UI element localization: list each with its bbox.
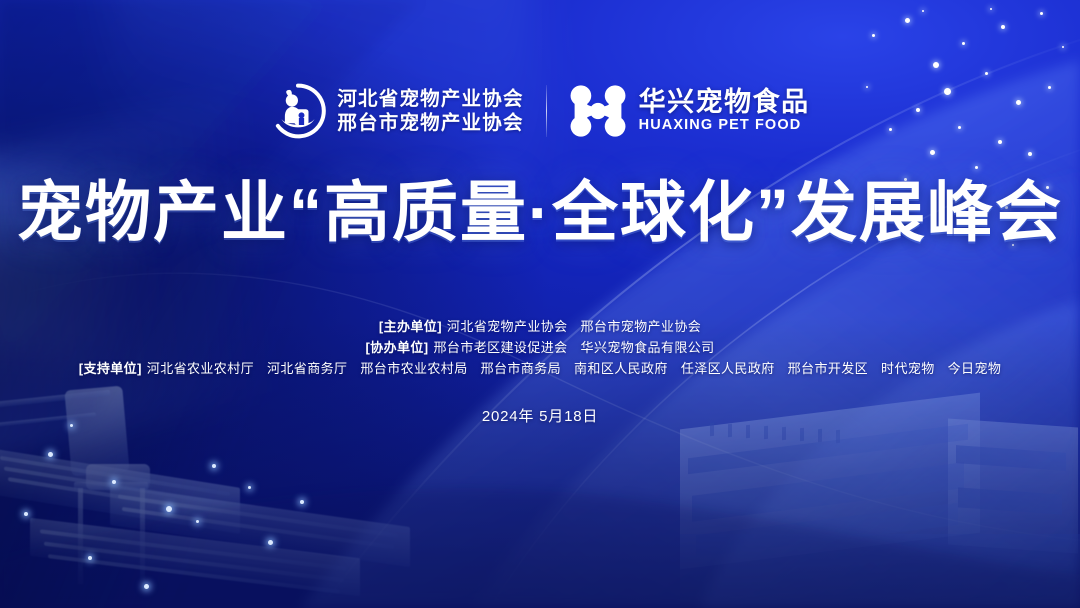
credit-tag: [支持单位] xyxy=(79,361,142,376)
credit-org: 邢台市商务局 xyxy=(481,361,561,376)
huaxing-logo: 华兴宠物食品 HUAXING PET FOOD xyxy=(569,84,810,138)
banner-stage: 河北省宠物产业协会 邢台市宠物产业协会 华兴宠物食品 xyxy=(0,0,1080,608)
credit-tag: [主办单位] xyxy=(379,319,442,334)
credit-orgs: 河北省农业农村厅河北省商务厅邢台市农业农村局邢台市商务局南和区人民政府任泽区人民… xyxy=(147,361,1001,376)
credit-org: 任泽区人民政府 xyxy=(681,361,775,376)
page-title: 宠物产业“高质量·全球化”发展峰会 xyxy=(0,178,1080,247)
huaxing-name-en: HUAXING PET FOOD xyxy=(639,118,810,133)
event-date: 2024年 5月18日 xyxy=(0,405,1080,426)
credit-org: 时代宠物 xyxy=(881,361,935,376)
credit-line: [主办单位]河北省宠物产业协会邢台市宠物产业协会 xyxy=(0,316,1080,337)
association-logo: 河北省宠物产业协会 邢台市宠物产业协会 xyxy=(270,83,523,139)
credit-org: 河北省农业农村厅 xyxy=(147,361,254,376)
huaxing-name-block: 华兴宠物食品 HUAXING PET FOOD xyxy=(639,89,810,133)
credit-orgs: 河北省宠物产业协会邢台市宠物产业协会 xyxy=(447,319,701,334)
credit-org: 华兴宠物食品有限公司 xyxy=(581,340,715,355)
credit-tag: [协办单位] xyxy=(365,340,428,355)
credit-org: 河北省商务厅 xyxy=(267,361,347,376)
credit-org: 邢台市开发区 xyxy=(788,361,868,376)
banner-content: 河北省宠物产业协会 邢台市宠物产业协会 华兴宠物食品 xyxy=(0,0,1080,608)
logo-row: 河北省宠物产业协会 邢台市宠物产业协会 华兴宠物食品 xyxy=(0,74,1080,148)
credit-line: [支持单位]河北省农业农村厅河北省商务厅邢台市农业农村局邢台市商务局南和区人民政… xyxy=(0,358,1080,379)
credits-block: [主办单位]河北省宠物产业协会邢台市宠物产业协会 [协办单位]邢台市老区建设促进… xyxy=(0,316,1080,379)
huaxing-name-cn: 华兴宠物食品 xyxy=(639,89,810,116)
credit-org: 邢台市农业农村局 xyxy=(360,361,467,376)
credit-org: 邢台市老区建设促进会 xyxy=(434,340,568,355)
credit-org: 邢台市宠物产业协会 xyxy=(581,319,702,334)
association-name-block: 河北省宠物产业协会 邢台市宠物产业协会 xyxy=(337,89,523,133)
credit-line: [协办单位]邢台市老区建设促进会华兴宠物食品有限公司 xyxy=(0,337,1080,358)
credit-orgs: 邢台市老区建设促进会华兴宠物食品有限公司 xyxy=(434,340,715,355)
pet-association-circle-icon xyxy=(270,83,326,139)
logo-divider xyxy=(546,85,547,137)
association-line-2: 邢台市宠物产业协会 xyxy=(337,113,523,134)
credit-org: 今日宠物 xyxy=(948,361,1002,376)
credit-org: 河北省宠物产业协会 xyxy=(447,319,568,334)
credit-org: 南和区人民政府 xyxy=(574,361,668,376)
huaxing-molecule-h-icon xyxy=(569,84,627,138)
association-line-1: 河北省宠物产业协会 xyxy=(337,89,523,110)
